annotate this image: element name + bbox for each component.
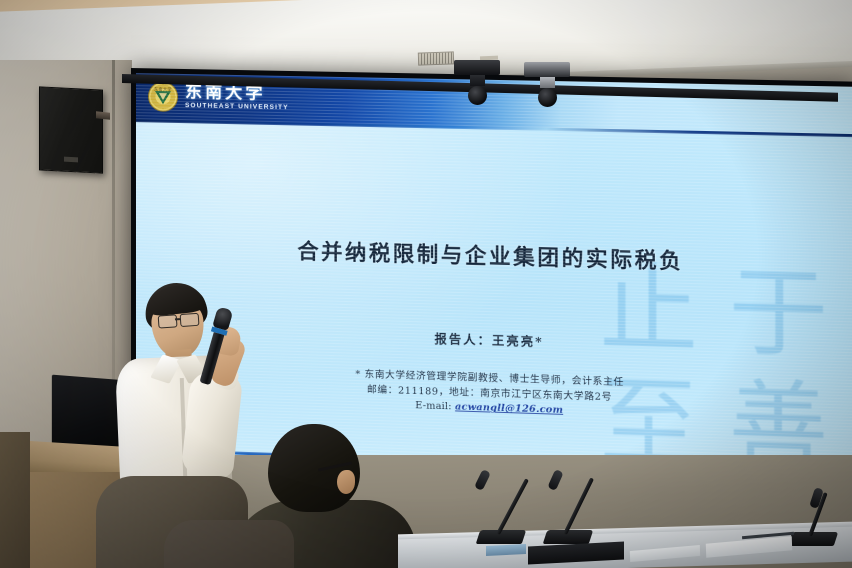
wall-speaker-icon: [39, 86, 103, 173]
university-name-cn: 东南大学: [185, 84, 289, 103]
glasses-lens-right: [180, 313, 200, 327]
microphone-gooseneck: [496, 478, 529, 535]
camera-body: [524, 62, 570, 77]
audience-head: [268, 424, 360, 512]
projector-neck: [470, 75, 485, 86]
camera-lens: [538, 88, 557, 107]
audience-ear: [337, 470, 355, 494]
presentation-slide: 止 于 至 善 东南大学 东南大学 SOUTHEAST UNIVERS: [136, 73, 852, 502]
email-label: E-mail:: [415, 400, 451, 412]
foreground-chair-back-second: [164, 520, 294, 568]
projector-lens: [468, 86, 487, 105]
lectern-side-panel: [0, 432, 30, 568]
table-blue-pad: [486, 544, 526, 556]
microphone-base: [788, 532, 839, 546]
projector-body: [454, 60, 500, 75]
email-link[interactable]: acwangll@126.com: [455, 402, 563, 417]
ceiling-projector-icon: [454, 60, 500, 105]
emblem-triangle: [155, 91, 171, 104]
speaker-mount-bracket: [96, 111, 110, 119]
presenter-glasses-icon: [158, 312, 205, 326]
calligraphy-watermark: 止 于 至 善: [584, 253, 843, 488]
camera-neck: [540, 77, 555, 88]
slide-footnotes: * 东南大学经济管理学院副教授、博士生导师，会计系主任 邮编：211189，地址…: [136, 361, 852, 428]
microphone-capsule: [547, 469, 563, 491]
gooseneck-microphone-icon: [790, 488, 850, 546]
slide-title: 合并纳税限制与企业集团的实际税负: [136, 231, 852, 280]
microphone-gooseneck: [563, 477, 594, 534]
southeast-university-emblem-icon: 东南大学: [148, 81, 178, 112]
ceiling-camera-icon: [524, 62, 570, 107]
speaker-badge: [64, 157, 78, 163]
university-name-block: 东南大学 SOUTHEAST UNIVERSITY: [185, 84, 289, 112]
gooseneck-microphone-icon: [478, 468, 548, 544]
glasses-lens-left: [158, 314, 178, 328]
screen-surface: 止 于 至 善 东南大学 东南大学 SOUTHEAST UNIVERS: [136, 73, 852, 502]
projection-screen: 止 于 至 善 东南大学 东南大学 SOUTHEAST UNIVERS: [131, 68, 852, 508]
university-name-en: SOUTHEAST UNIVERSITY: [185, 103, 289, 112]
lecture-hall-scene: 止 于 至 善 东南大学 东南大学 SOUTHEAST UNIVERS: [0, 0, 852, 568]
gooseneck-microphone-icon: [545, 468, 615, 544]
ceiling-air-vent-icon: [418, 51, 454, 65]
